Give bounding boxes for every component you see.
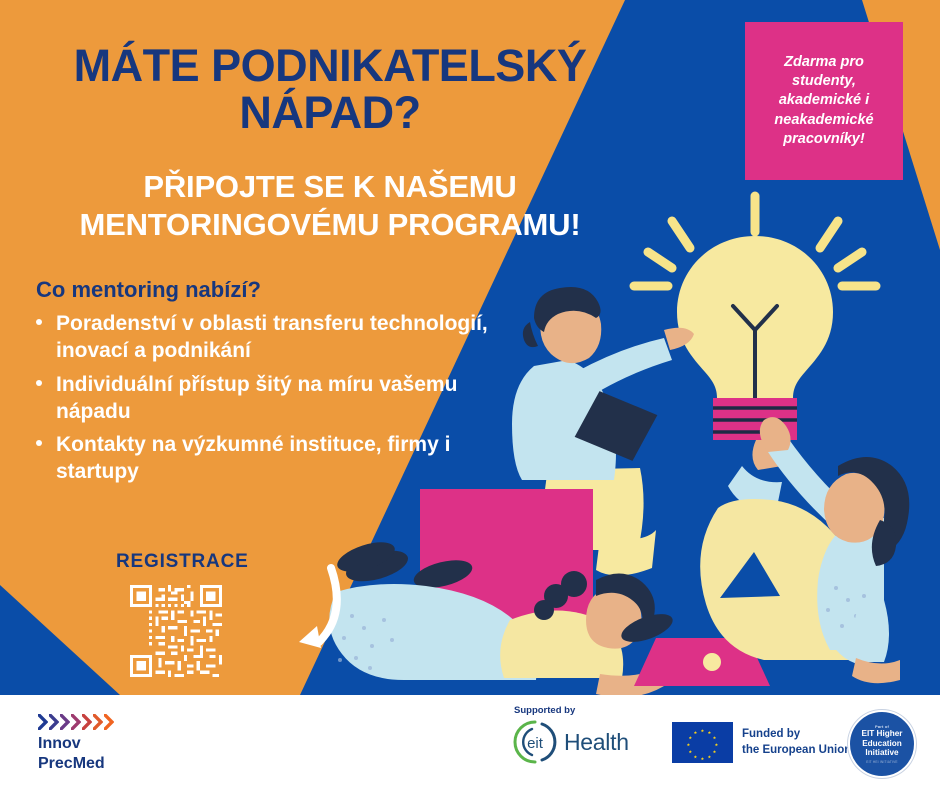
chevron-icon	[82, 714, 92, 730]
eit-monogram: eit	[527, 735, 544, 752]
innov-line-2: PrecMed	[38, 754, 114, 774]
chevron-icon	[93, 714, 103, 730]
bullet-dot-icon	[36, 319, 42, 325]
chevron-icon	[60, 714, 70, 730]
eu-funding-logo: Funded by the European Union	[672, 722, 851, 763]
badge-line-1: Zdarma pro	[784, 53, 864, 72]
innovprecmed-logo: Innov PrecMed	[38, 714, 114, 773]
eit-circle-icon: eit	[512, 719, 558, 765]
list-item-label: Kontakty na výzkumné instituce, firmy i …	[56, 433, 450, 483]
eit-health-logo: Supported by eit Health	[512, 705, 629, 765]
list-item-label: Individuální přístup šitý na míru vašemu…	[56, 373, 457, 423]
chevron-row-icon	[38, 714, 114, 730]
eu-line-1: Funded by	[742, 727, 851, 743]
subheadline-line-2: MENTORINGOVÉMU PROGRAMU!	[20, 206, 640, 244]
free-for-students-badge: Zdarma pro studenty, akademické i neakad…	[745, 22, 903, 180]
badge-line-5: pracovníky!	[783, 130, 864, 149]
headline-line-2: NÁPAD?	[30, 89, 630, 136]
eu-line-2: the European Union	[742, 743, 851, 759]
bullet-dot-icon	[36, 440, 42, 446]
eu-funding-text: Funded by the European Union	[742, 727, 851, 758]
badge-text: Zdarma pro studenty, akademické i neakad…	[745, 22, 903, 180]
list-item: Poradenství v oblasti transferu technolo…	[30, 310, 530, 365]
hei-line-2: Education	[862, 739, 902, 749]
page-title: MÁTE PODNIKATELSKÝ NÁPAD?	[30, 42, 630, 137]
eit-health-lockup: eit Health	[512, 719, 629, 765]
list-item-label: Poradenství v oblasti transferu technolo…	[56, 312, 488, 362]
chevron-icon	[104, 714, 114, 730]
chevron-icon	[49, 714, 59, 730]
curved-arrow-icon	[235, 560, 345, 670]
chevron-icon	[71, 714, 81, 730]
hei-bottom-label: EIT HEI INITIATIVE	[866, 760, 897, 764]
offer-title: Co mentoring nabízí?	[36, 277, 261, 303]
eu-flag-icon	[672, 722, 733, 763]
hei-line-3: Initiative	[865, 748, 898, 758]
innov-line-1: Innov	[38, 734, 114, 754]
list-item: Kontakty na výzkumné instituce, firmy i …	[30, 431, 530, 486]
poster: MÁTE PODNIKATELSKÝ NÁPAD? PŘIPOJTE SE K …	[0, 0, 940, 788]
qr-code[interactable]	[130, 585, 222, 677]
subheadline-line-1: PŘIPOJTE SE K NAŠEMU	[20, 168, 640, 206]
benefits-list: Poradenství v oblasti transferu technolo…	[30, 310, 530, 492]
badge-line-4: neakademické	[774, 111, 873, 130]
headline-line-1: MÁTE PODNIKATELSKÝ	[30, 42, 630, 89]
eit-health-wordmark: Health	[564, 729, 629, 756]
eit-hei-badge: Part of EIT Higher Education Initiative …	[848, 710, 916, 778]
chevron-icon	[38, 714, 48, 730]
supported-by-label: Supported by	[512, 705, 629, 716]
registration-label: REGISTRACE	[116, 551, 249, 573]
badge-line-3: akademické i	[779, 91, 869, 110]
list-item: Individuální přístup šitý na míru vašemu…	[30, 371, 530, 426]
subheadline: PŘIPOJTE SE K NAŠEMU MENTORINGOVÉMU PROG…	[20, 168, 640, 244]
bullet-dot-icon	[36, 380, 42, 386]
badge-line-2: studenty,	[792, 72, 856, 91]
hei-line-1: EIT Higher	[862, 729, 903, 739]
